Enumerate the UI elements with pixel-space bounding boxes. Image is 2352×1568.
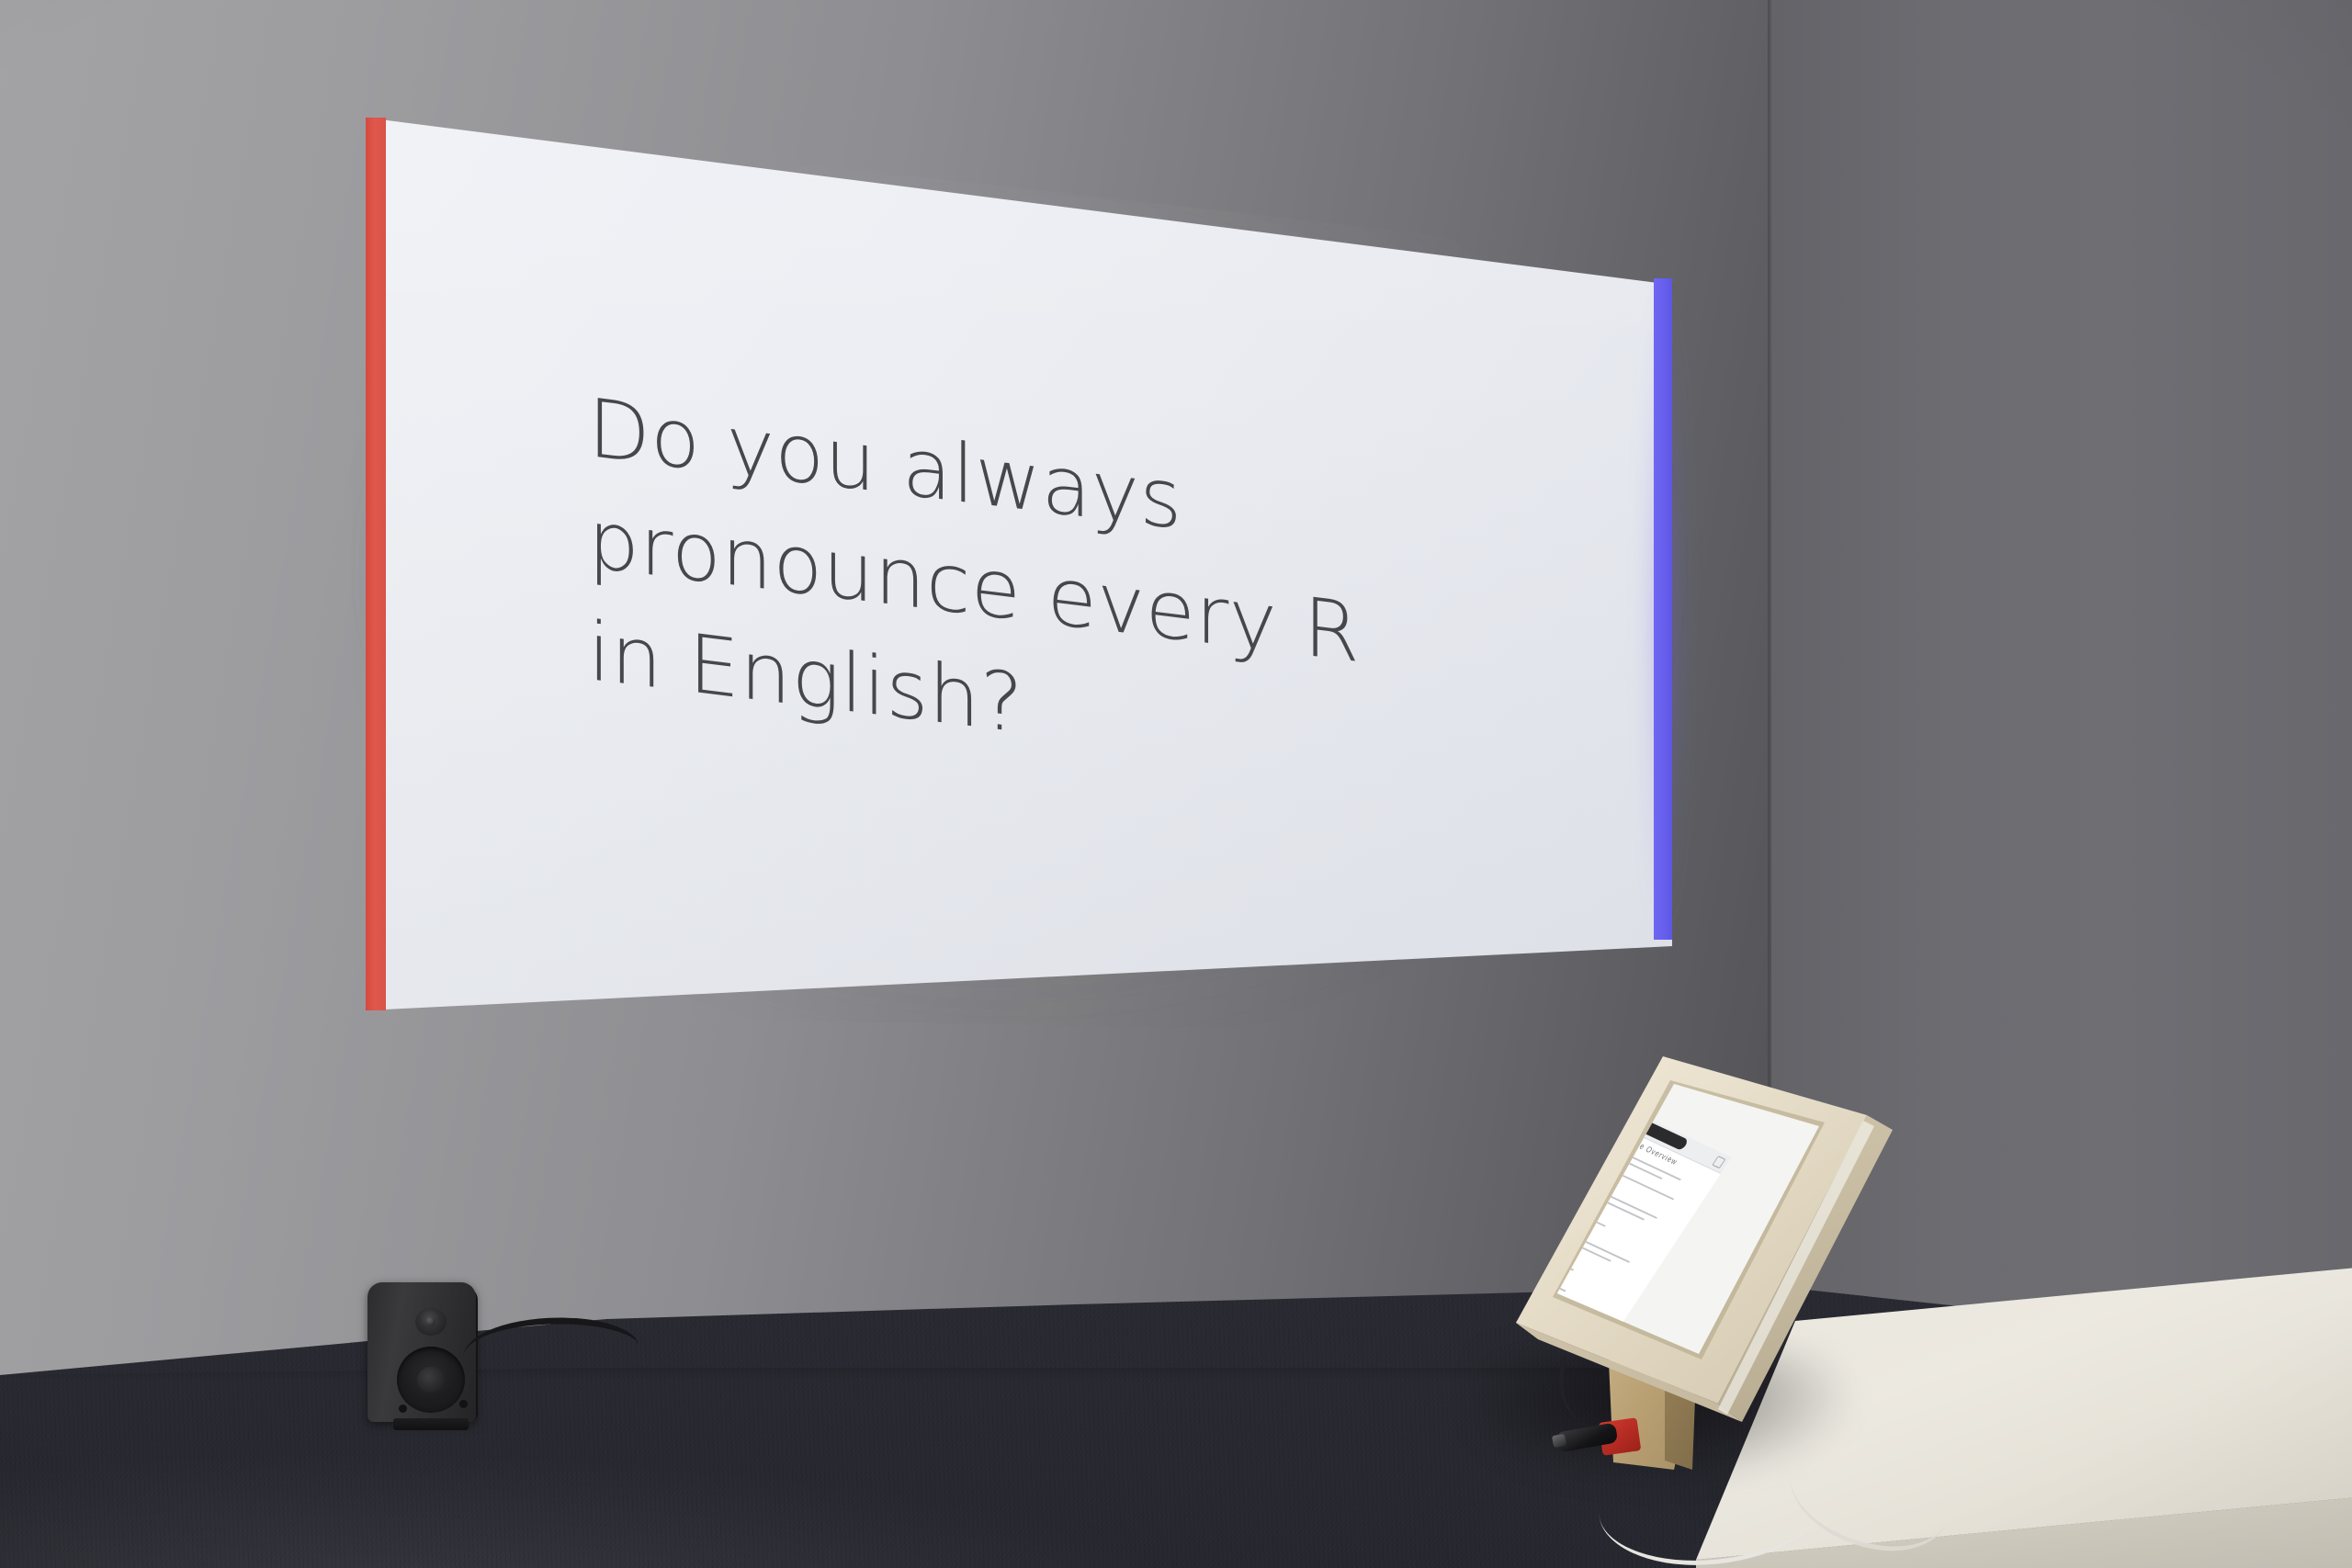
speaker-screw <box>459 1400 468 1408</box>
slide-left-red-bar <box>366 118 386 1010</box>
url-text: englishes-mooc.org <box>1576 1091 1618 1116</box>
slide-right-blue-bar <box>1654 278 1672 940</box>
speaker-screw <box>399 1404 407 1413</box>
speaker-cabinet <box>367 1282 476 1422</box>
accent-stripes <box>1507 1085 1539 1311</box>
back-arrow-icon[interactable] <box>1541 1076 1548 1085</box>
logo-line-1: Englishes <box>1566 1113 1605 1138</box>
speaker-woofer <box>397 1347 465 1413</box>
clamp-tip <box>1552 1434 1566 1448</box>
person-thumbnail <box>1513 1131 1533 1149</box>
speaker-tweeter <box>415 1308 447 1336</box>
tabs-icon[interactable] <box>1712 1156 1725 1168</box>
forward-arrow-icon[interactable] <box>1551 1080 1558 1089</box>
installation-photo-scene: Do you always pronounce every R in Engli… <box>0 0 2352 1568</box>
speaker-base-plate <box>393 1418 469 1430</box>
lock-icon <box>1573 1091 1578 1097</box>
logo-line-2: MOOC <box>1559 1123 1590 1145</box>
person-thumbnail <box>1526 1141 1546 1159</box>
